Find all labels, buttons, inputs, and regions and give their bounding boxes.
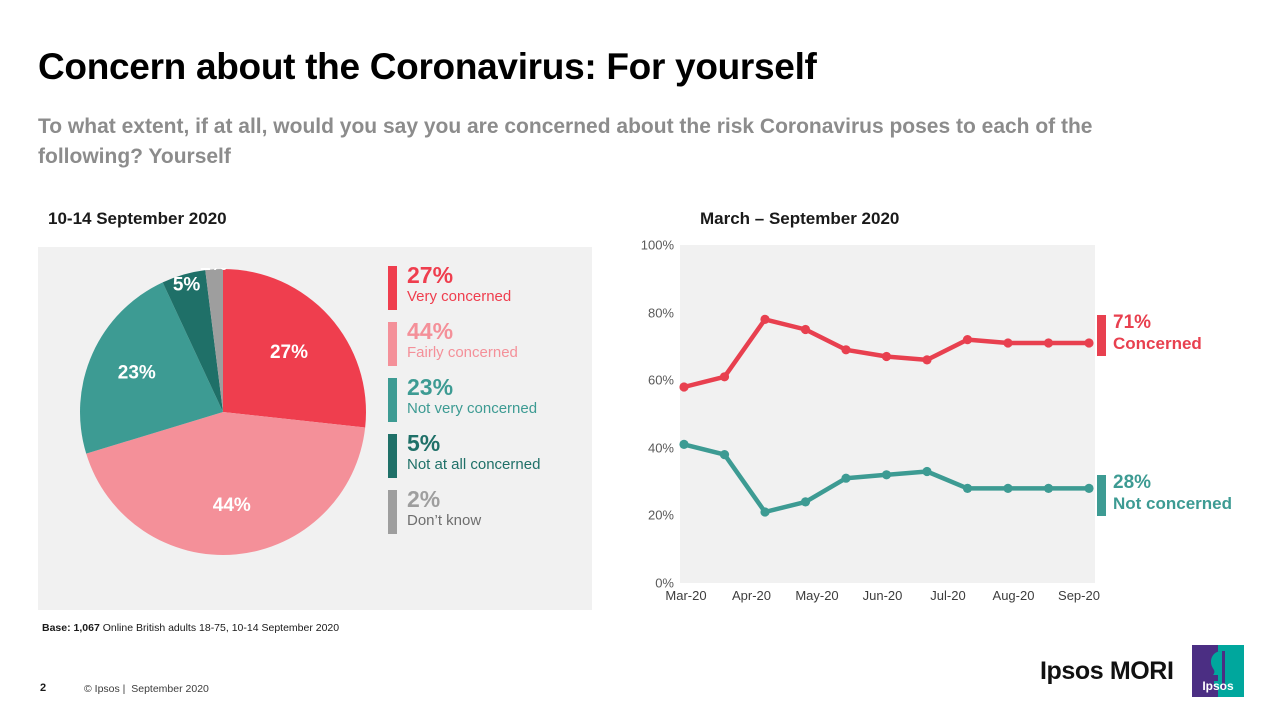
line-data-point xyxy=(1084,338,1093,347)
end-swatch-concerned xyxy=(1097,315,1106,356)
logo-wordmark: Ipsos MORI xyxy=(1040,657,1174,686)
line-section-heading: March – September 2020 xyxy=(700,209,899,229)
line-data-point xyxy=(922,467,931,476)
pie-slice-label: 27% xyxy=(270,342,308,363)
pie-legend-value: 23% xyxy=(407,375,588,399)
logo-mark-text: Ipsos xyxy=(1202,679,1234,693)
pie-legend-swatch xyxy=(388,378,397,422)
line-series-svg xyxy=(612,238,1092,608)
end-text-concerned: Concerned xyxy=(1113,334,1202,354)
line-data-point xyxy=(760,507,769,516)
pie-legend-value: 2% xyxy=(407,487,588,511)
pie-legend-label: Very concerned xyxy=(407,288,588,307)
line-data-point xyxy=(882,352,891,361)
end-value-concerned: 71% xyxy=(1113,313,1202,334)
pie-slice-label: 44% xyxy=(213,495,251,516)
end-label-concerned: 71% Concerned xyxy=(1097,313,1202,353)
line-data-point xyxy=(1003,484,1012,493)
line-data-point xyxy=(1044,484,1053,493)
pie-legend-swatch xyxy=(388,490,397,534)
line-data-point xyxy=(720,372,729,381)
line-data-point xyxy=(841,474,850,483)
pie-chart-svg: 27%44%23%5%2% xyxy=(79,268,367,556)
end-label-not-concerned: 28% Not concerned xyxy=(1097,473,1232,513)
pie-legend-item: 27%Very concerned xyxy=(388,263,588,307)
line-data-point xyxy=(720,450,729,459)
ipsos-logo-mark-icon: Ipsos xyxy=(1192,645,1244,697)
pie-legend-item: 44%Fairly concerned xyxy=(388,319,588,363)
line-data-point xyxy=(801,497,810,506)
line-data-point xyxy=(679,382,688,391)
line-chart: 0%20%40%60%80%100% Mar-20Apr-20May-20Jun… xyxy=(612,238,1092,608)
line-data-point xyxy=(679,440,688,449)
end-text-not-concerned: Not concerned xyxy=(1113,494,1232,514)
slide: Concern about the Coronavirus: For yours… xyxy=(0,0,1280,720)
pie-slice-label: 23% xyxy=(118,363,156,384)
pie-legend-value: 27% xyxy=(407,263,588,287)
line-data-point xyxy=(963,484,972,493)
line-data-point xyxy=(801,325,810,334)
line-data-point xyxy=(963,335,972,344)
page-title: Concern about the Coronavirus: For yours… xyxy=(38,46,817,88)
end-swatch-not-concerned xyxy=(1097,475,1106,516)
pie-legend-swatch xyxy=(388,434,397,478)
pie-chart: 27%44%23%5%2% xyxy=(79,268,367,556)
pie-legend-label: Not at all concerned xyxy=(407,456,588,475)
pie-legend-label: Don’t know xyxy=(407,512,588,531)
line-data-point xyxy=(841,345,850,354)
base-note: Base: 1,067 Online British adults 18-75,… xyxy=(42,622,339,634)
base-note-bold: Base: 1,067 xyxy=(42,622,100,634)
line-data-point xyxy=(1044,338,1053,347)
pie-legend: 27%Very concerned44%Fairly concerned23%N… xyxy=(388,263,588,542)
pie-section-heading: 10-14 September 2020 xyxy=(48,209,227,229)
line-data-point xyxy=(922,355,931,364)
pie-legend-item: 2%Don’t know xyxy=(388,487,588,531)
pie-slice-label: 5% xyxy=(173,275,201,296)
pie-legend-item: 23%Not very concerned xyxy=(388,375,588,419)
pie-slice-label: 2% xyxy=(200,268,228,275)
pie-legend-label: Not very concerned xyxy=(407,400,588,419)
pie-legend-value: 5% xyxy=(407,431,588,455)
pie-legend-item: 5%Not at all concerned xyxy=(388,431,588,475)
end-value-not-concerned: 28% xyxy=(1113,473,1232,494)
pie-legend-swatch xyxy=(388,266,397,310)
pie-legend-label: Fairly concerned xyxy=(407,344,588,363)
footer-page-number: 2 xyxy=(40,682,46,694)
pie-legend-swatch xyxy=(388,322,397,366)
page-subtitle: To what extent, if at all, would you say… xyxy=(38,112,1148,173)
line-data-point xyxy=(882,470,891,479)
line-data-point xyxy=(1084,484,1093,493)
line-data-point xyxy=(760,315,769,324)
base-note-rest: Online British adults 18-75, 10-14 Septe… xyxy=(100,622,339,634)
line-data-point xyxy=(1003,338,1012,347)
footer-copyright: © Ipsos | September 2020 xyxy=(84,683,209,695)
pie-legend-value: 44% xyxy=(407,319,588,343)
